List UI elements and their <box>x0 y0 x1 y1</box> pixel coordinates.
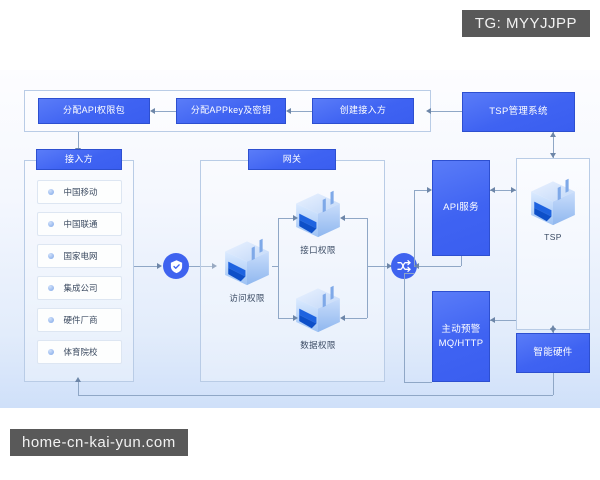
arrowhead-bottom-loop-to-consumer <box>75 377 81 382</box>
arrowhead-tsp-to-api <box>490 187 495 193</box>
arrowhead-tsp-to-create <box>426 108 431 114</box>
connector-data-to-merge <box>345 318 367 319</box>
smart-hardware-label: 智能硬件 <box>533 346 572 360</box>
arrowhead-branch-to-interface <box>293 215 298 221</box>
consumer-panel-header: 接入方 <box>36 149 122 170</box>
alert-service-line2: MQ/HTTP <box>439 337 484 351</box>
connector-branch-to-data <box>278 318 294 319</box>
gateway-panel-header-label: 网关 <box>283 153 302 166</box>
architecture-diagram-canvas: 分配API权限包 分配APPkey及密钥 创建接入方 TSP管理系统 接入方 中… <box>0 70 600 408</box>
connector-alert-loop-bottom <box>404 382 432 383</box>
tsp-node-label: TSP <box>544 232 562 242</box>
step-allocate-api-package[interactable]: 分配API权限包 <box>38 98 150 124</box>
connector-appkey-to-package <box>155 111 176 112</box>
list-item-label: 中国联通 <box>54 218 121 230</box>
connector-bottom-loop-right <box>553 373 554 395</box>
gateway-panel-header: 网关 <box>248 149 336 170</box>
connector-merge-vertical <box>367 218 368 318</box>
api-service-box[interactable]: API服务 <box>432 160 490 256</box>
connector-create-to-appkey <box>291 111 312 112</box>
arrowhead-consumer-to-shield <box>157 263 162 269</box>
connector-switch-to-api-vertical <box>414 190 415 266</box>
step-create-consumer[interactable]: 创建接入方 <box>312 98 414 124</box>
step-create-consumer-label: 创建接入方 <box>340 104 387 117</box>
gateway-node-interface[interactable]: 接口权限 <box>293 190 343 256</box>
watermark-top-right: TG: MYYJJPP <box>462 10 590 37</box>
connector-branch-to-interface <box>278 218 294 219</box>
arrowhead-branch-to-data <box>293 315 298 321</box>
connector-interface-to-merge <box>345 218 367 219</box>
alert-service-line1: 主动预警 <box>441 323 480 337</box>
tsp-management-system[interactable]: TSP管理系统 <box>462 92 575 132</box>
step-allocate-api-package-label: 分配API权限包 <box>63 104 125 117</box>
arrowhead-into-interface <box>340 215 345 221</box>
arrowhead-tsp-to-tspmgmt <box>550 132 556 137</box>
step-allocate-appkey[interactable]: 分配APPkey及密钥 <box>176 98 286 124</box>
connector-branch-vertical <box>278 218 279 318</box>
arrowhead-tspmgmt-to-tsp <box>550 153 556 158</box>
gateway-node-data-label: 数据权限 <box>300 339 336 351</box>
shield-check-badge[interactable] <box>163 253 189 279</box>
connector-consumer-to-shield <box>134 266 158 267</box>
connector-tsp-to-create <box>431 111 462 112</box>
list-item-label: 体育院校 <box>54 346 121 358</box>
list-item-china-unicom[interactable]: 中国联通 <box>37 212 122 236</box>
gateway-node-data[interactable]: 数据权限 <box>293 285 343 351</box>
consumer-panel-header-label: 接入方 <box>65 153 93 166</box>
connector-alert-loop-top <box>404 273 414 274</box>
tsp-management-system-label: TSP管理系统 <box>489 105 548 119</box>
step-allocate-appkey-label: 分配APPkey及密钥 <box>191 104 271 117</box>
list-item-label: 集成公司 <box>54 282 121 294</box>
list-item-hardware-vendor[interactable]: 硬件厂商 <box>37 308 122 332</box>
arrowhead-appkey-to-package <box>150 108 155 114</box>
arrowhead-tsp-to-hardware <box>550 328 556 333</box>
shield-check-icon <box>169 259 184 274</box>
arrowhead-into-data <box>340 315 345 321</box>
gateway-node-access-label: 访问权限 <box>229 292 265 304</box>
arrowhead-create-to-appkey <box>286 108 291 114</box>
connector-bottom-loop-left <box>78 382 79 395</box>
connector-api-to-switch-vertical <box>461 256 462 266</box>
arrowhead-api-to-switch <box>414 263 419 269</box>
server-cube-icon <box>528 178 578 230</box>
alert-service-box[interactable]: 主动预警 MQ/HTTP <box>432 291 490 382</box>
list-item-china-mobile[interactable]: 中国移动 <box>37 180 122 204</box>
server-cube-icon <box>222 238 272 290</box>
connector-api-to-switch <box>418 266 461 267</box>
smart-hardware-box[interactable]: 智能硬件 <box>516 333 590 373</box>
list-item-sports-academy[interactable]: 体育院校 <box>37 340 122 364</box>
connector-switch-to-api <box>414 190 428 191</box>
connector-alert-loop-vertical <box>404 273 405 382</box>
gateway-node-access[interactable]: 访问权限 <box>222 238 272 304</box>
watermark-bottom-left: home-cn-kai-yun.com <box>10 429 188 456</box>
arrowhead-tsp-to-alert <box>490 317 495 323</box>
list-item-label: 硬件厂商 <box>54 314 121 326</box>
server-cube-icon <box>293 285 343 337</box>
connector-admin-to-consumer <box>78 132 79 149</box>
gateway-node-interface-label: 接口权限 <box>300 244 336 256</box>
tsp-node[interactable]: TSP <box>528 178 578 242</box>
server-cube-icon <box>293 190 343 242</box>
connector-bottom-loop <box>78 395 553 396</box>
list-item-state-grid[interactable]: 国家电网 <box>37 244 122 268</box>
list-item-label: 中国移动 <box>54 186 121 198</box>
api-service-label: API服务 <box>443 201 479 215</box>
list-item-integration-company[interactable]: 集成公司 <box>37 276 122 300</box>
shuffle-icon <box>396 258 412 274</box>
list-item-label: 国家电网 <box>54 250 121 262</box>
